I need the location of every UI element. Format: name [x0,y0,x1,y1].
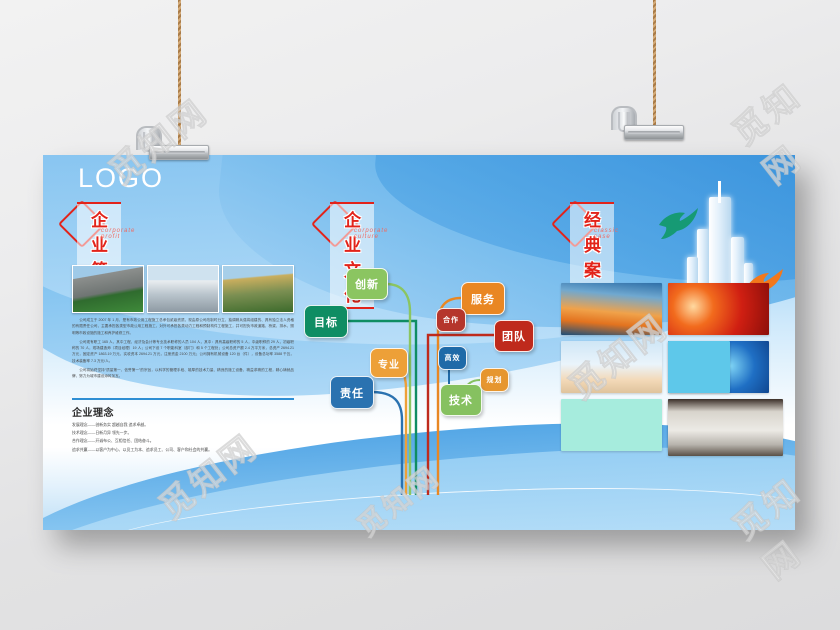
section-divider [72,398,294,400]
section-title-en: corporate culture [354,228,388,240]
node-label: 合作 [443,315,459,325]
cyan-block[interactable] [668,341,730,393]
red-tech-photo[interactable] [668,283,769,335]
node-label: 专业 [378,356,400,371]
green-dove-icon [655,207,699,241]
mindmap-node-jishu[interactable]: 技术 [440,384,482,416]
philosophy-title: 企业理念 [72,404,114,419]
philosophy-item: 合作理念——开诚布公、互相信任、团结奋斗。 [72,437,302,445]
sunset-ship-photo[interactable] [561,283,662,335]
mindmap-node-mubiao[interactable]: 目标 [304,305,348,338]
clip-body [149,145,209,160]
profile-paragraph: 公司将始终坚持“质量第一、信誉第一”的宗旨，以科学的管理手段、雄厚的技术力量、精… [72,367,294,380]
banner-board: LOGO 企业简介 corporate profit 企业文化 corporat… [43,155,795,530]
building-photo-2 [147,265,219,313]
meeting-photo[interactable] [668,399,783,456]
mindmap-node-zeren[interactable]: 责任 [330,376,374,409]
node-label: 规划 [487,375,503,385]
mindmap-node-guihua[interactable]: 规划 [480,368,509,392]
culture-mindmap: 创新 目标 专业 责任 服务 合作 团队 高效 规划 技术 [298,260,533,495]
building-photo-3 [222,265,294,313]
profile-body-text: 公司成立于 2007 年 1 月，是有市政公用工程施工总承包贰级资质，现由原公司… [72,317,294,383]
node-label: 创新 [355,276,379,292]
node-label: 技术 [449,392,473,408]
node-label: 高效 [445,353,461,363]
building-photo-1 [72,265,144,313]
profile-paragraph: 公司成立于 2007 年 1 月，是有市政公用工程施工总承包贰级资质，现由原公司… [72,317,294,336]
node-label: 目标 [314,314,338,330]
mindmap-node-hezuo[interactable]: 合作 [436,308,466,332]
node-label: 团队 [502,328,526,344]
section-title-en: classic case [594,228,619,240]
philosophy-item: 发展理念——创新务实 超越自我 追求卓越。 [72,421,302,429]
profile-photo-row [72,265,294,311]
profile-paragraph: 公司现有职工 165 人，其中工程、经济及会计等专业技术职称的人员 104 人，… [72,339,294,364]
philosophy-list: 发展理念——创新务实 超越自我 追求卓越。 技术理念——日新月异 领先一步。 合… [72,421,302,454]
hanging-rope-left [178,0,181,148]
mindmap-node-chuangxin[interactable]: 创新 [346,268,388,300]
mindmap-node-tuandui[interactable]: 团队 [494,320,534,352]
logo-text[interactable]: LOGO [78,163,164,194]
philosophy-item: 追求共赢——以客户为中心、以员工为本、追求员工、公司、客户和社会的共赢。 [72,446,302,454]
section-title-en: corporate profit [101,228,135,240]
mindmap-node-fuwu[interactable]: 服务 [461,282,505,315]
philosophy-item: 技术理念——日新月异 领先一步。 [72,429,302,437]
clip-body [624,125,684,140]
hanging-rope-right [653,0,656,128]
mint-block[interactable] [561,399,662,451]
airplane-photo[interactable] [561,341,662,393]
mindmap-node-gaoxiao[interactable]: 高效 [438,346,467,370]
node-label: 责任 [340,385,364,401]
node-label: 服务 [471,291,495,307]
mindmap-node-zhuanye[interactable]: 专业 [370,348,408,378]
